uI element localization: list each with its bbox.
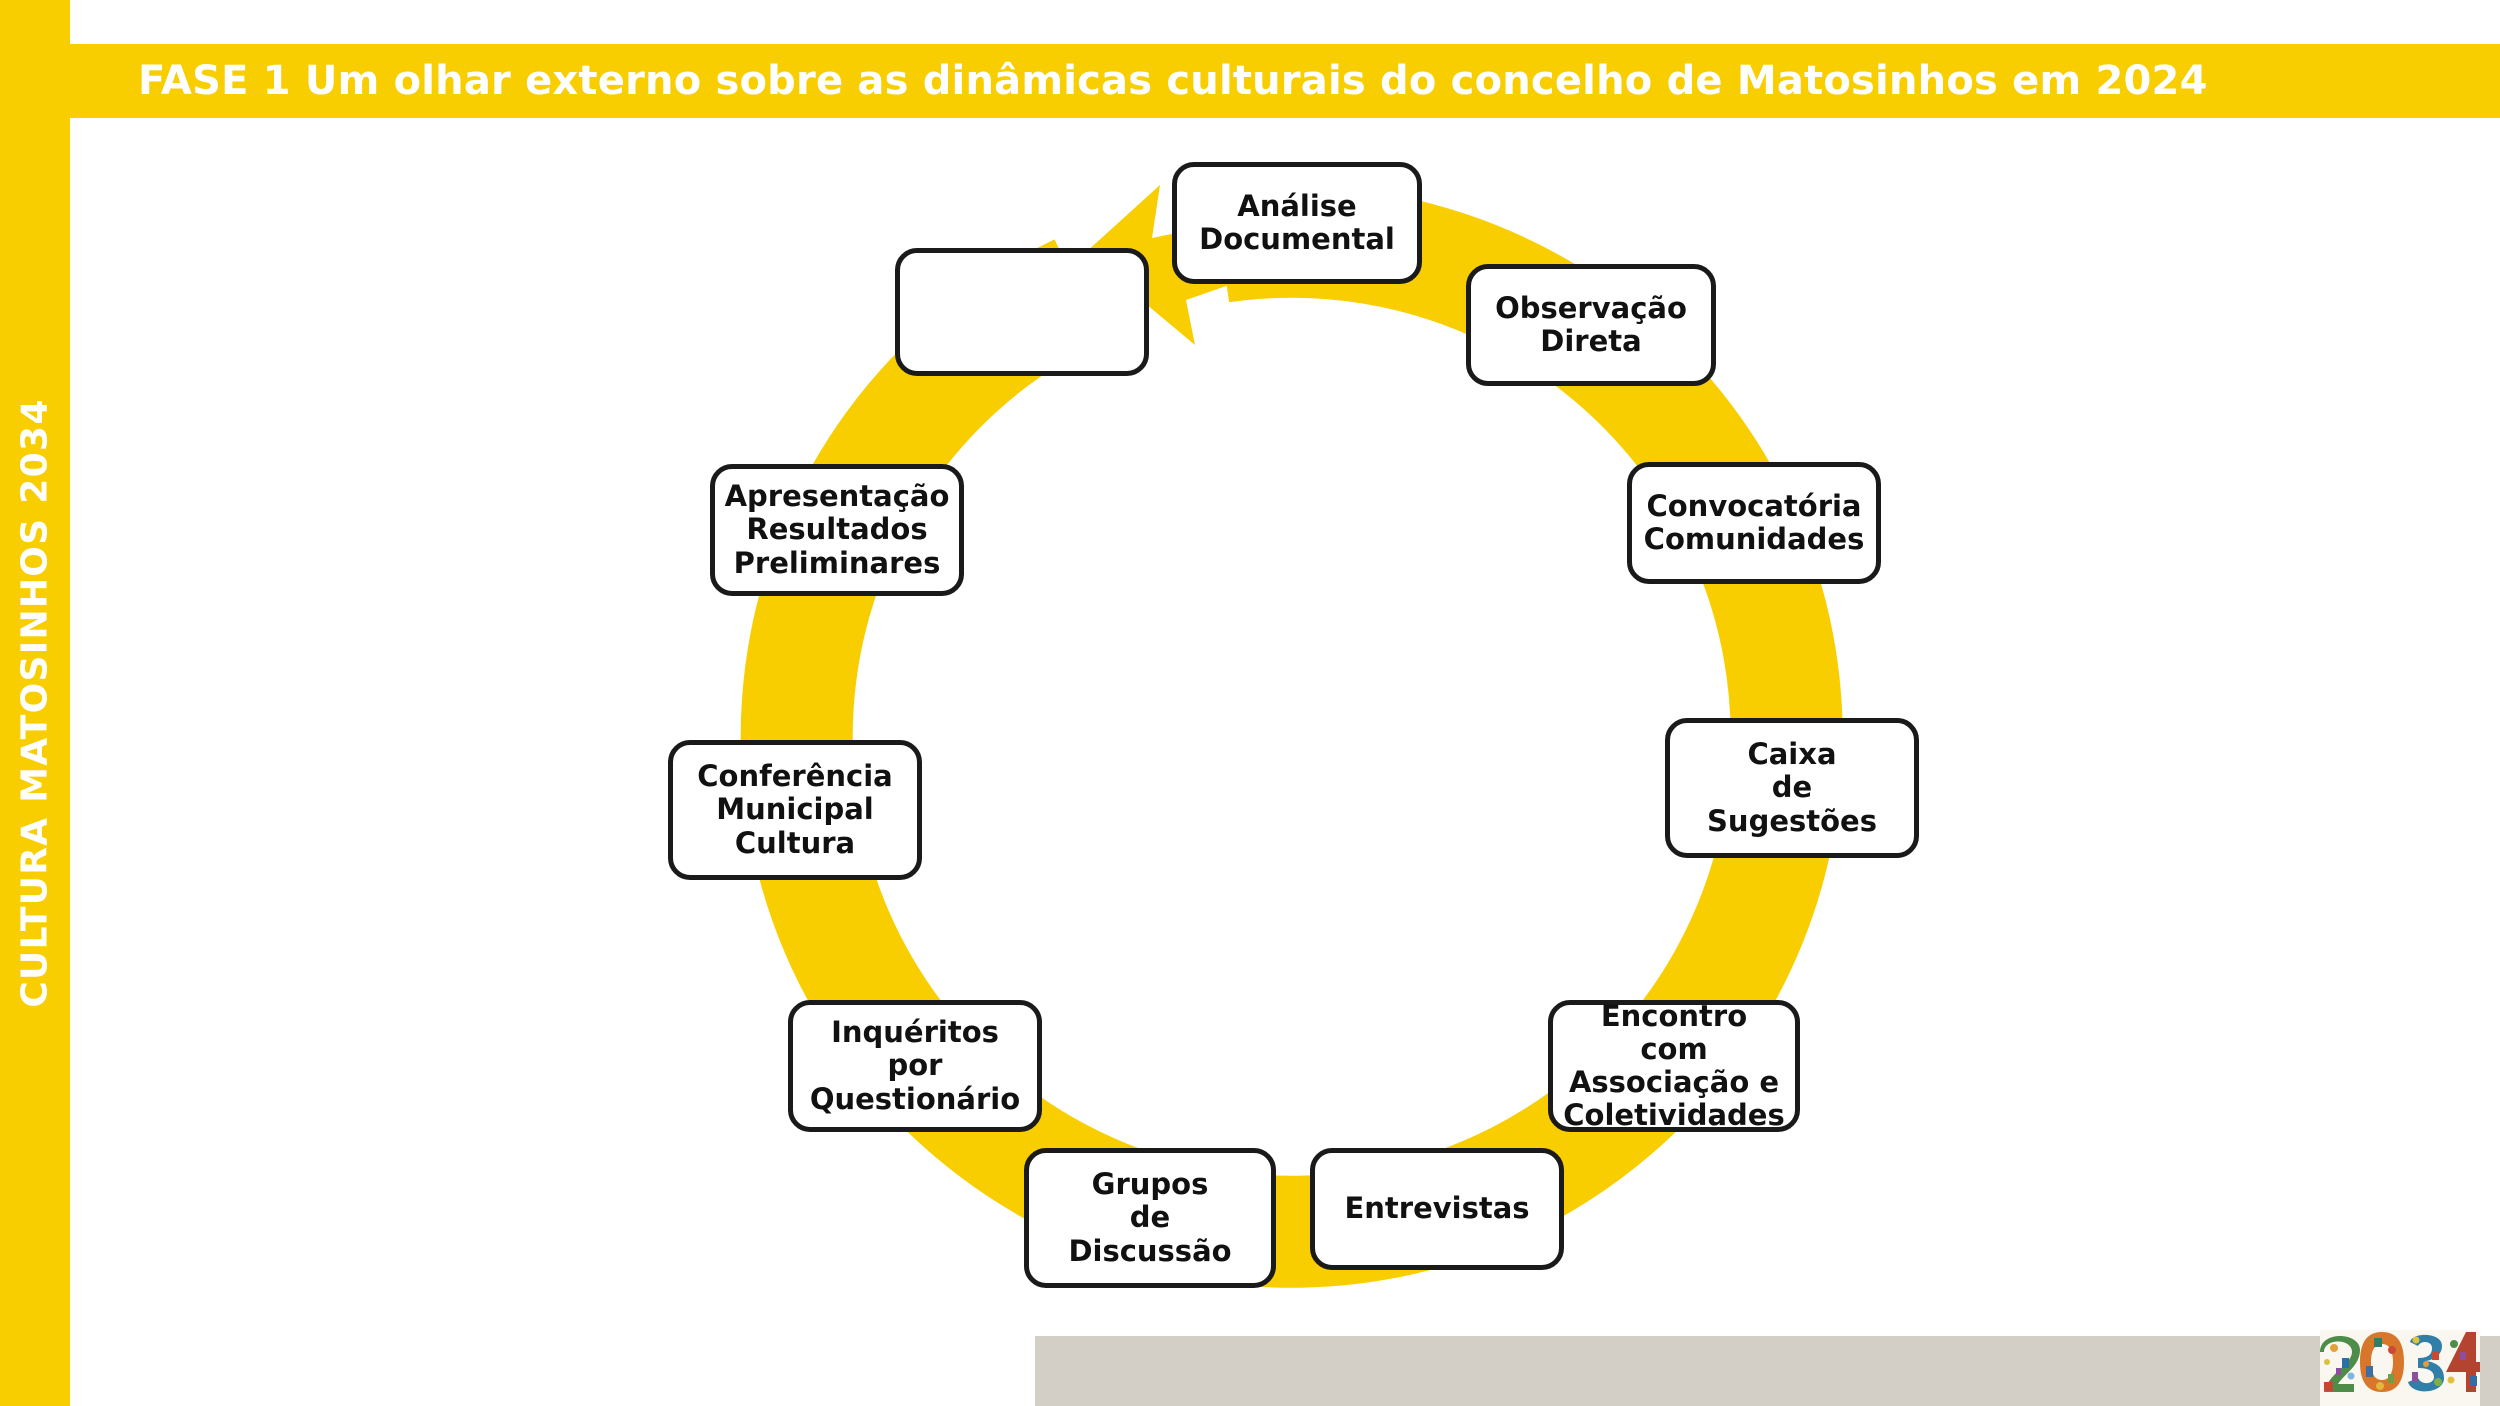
- cycle-node-grupos-de-discussao-label: Grupos de Discussão: [1068, 1168, 1231, 1267]
- footer-band: [1035, 1336, 2500, 1406]
- page-title: FASE 1 Um olhar externo sobre as dinâmic…: [138, 58, 2208, 104]
- cycle-node-encontro-associacao-label: Encontro com Associação e Coletividades: [1563, 1000, 1785, 1132]
- cycle-node-entrevistas-label: Entrevistas: [1344, 1192, 1529, 1225]
- cycle-node-apresentacao-resultados-label: Apresentação Resultados Preliminares: [725, 480, 950, 579]
- logo-2034-icon: [2320, 1330, 2480, 1406]
- sidebar-vertical-title: CULTURA MATOSINHOS 2034: [15, 398, 56, 1007]
- cycle-node-inqueritos-questionario-label: Inquéritos por Questionário: [810, 1016, 1020, 1115]
- cycle-node-caixa-de-sugestoes[interactable]: Caixa de Sugestões: [1665, 718, 1919, 858]
- cycle-node-convocatoria-comunidades-label: Convocatória Comunidades: [1644, 490, 1865, 556]
- sidebar-band: CULTURA MATOSINHOS 2034: [0, 0, 70, 1406]
- header-band: FASE 1 Um olhar externo sobre as dinâmic…: [70, 44, 2500, 118]
- cycle-node-empty[interactable]: [895, 248, 1149, 376]
- cycle-node-analise-documental[interactable]: Análise Documental: [1172, 162, 1422, 284]
- cycle-node-inqueritos-questionario[interactable]: Inquéritos por Questionário: [788, 1000, 1042, 1132]
- cycle-node-encontro-associacao[interactable]: Encontro com Associação e Coletividades: [1548, 1000, 1800, 1132]
- cycle-node-analise-documental-label: Análise Documental: [1199, 190, 1395, 256]
- cycle-node-conferencia-municipal[interactable]: Conferência Municipal Cultura: [668, 740, 922, 880]
- cycle-node-observacao-direta-label: Observação Direta: [1495, 292, 1687, 358]
- cycle-node-conferencia-municipal-label: Conferência Municipal Cultura: [697, 760, 892, 859]
- cycle-node-apresentacao-resultados[interactable]: Apresentação Resultados Preliminares: [710, 464, 964, 596]
- cycle-node-caixa-de-sugestoes-label: Caixa de Sugestões: [1707, 738, 1877, 837]
- cycle-node-observacao-direta[interactable]: Observação Direta: [1466, 264, 1716, 386]
- cycle-node-convocatoria-comunidades[interactable]: Convocatória Comunidades: [1627, 462, 1881, 584]
- cycle-node-entrevistas[interactable]: Entrevistas: [1310, 1148, 1564, 1270]
- cycle-node-grupos-de-discussao[interactable]: Grupos de Discussão: [1024, 1148, 1276, 1288]
- slide-canvas: CULTURA MATOSINHOS 2034 FASE 1 Um olhar …: [0, 0, 2500, 1406]
